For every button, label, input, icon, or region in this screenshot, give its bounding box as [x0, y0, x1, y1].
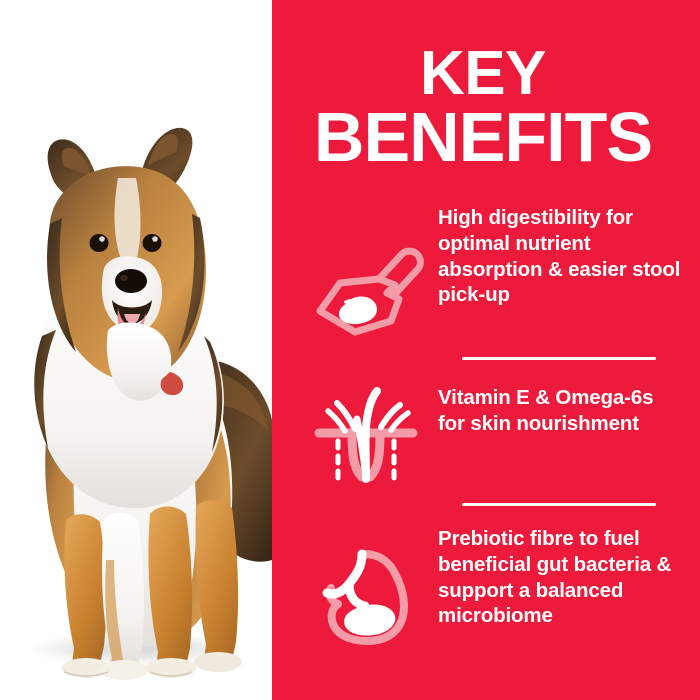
- dog-photo: [0, 0, 272, 700]
- page-title: KEY BENEFITS: [280, 44, 686, 171]
- stomach-inner-fill: [344, 605, 395, 636]
- title-line-key: KEY: [280, 44, 686, 104]
- sheltie-dog-illustration: [0, 0, 272, 700]
- spacer: [272, 506, 700, 524]
- stomach-icon: [307, 546, 425, 646]
- benefit-icon-cell: [294, 379, 438, 483]
- benefits-list: High digestibility for optimal nutrient …: [272, 203, 700, 646]
- spacer: [272, 337, 700, 357]
- benefit-icon-cell: [294, 203, 438, 337]
- key-benefits-panel: KEY BENEFITS: [272, 0, 700, 700]
- benefit-text: High digestibility for optimal nutrient …: [438, 203, 682, 308]
- benefit-item-digestibility: High digestibility for optimal nutrient …: [272, 203, 700, 337]
- benefit-icon-cell: [294, 524, 438, 646]
- key-benefits-poster: KEY BENEFITS: [0, 0, 700, 700]
- benefit-text: Vitamin E & Omega-6s for skin nourishmen…: [438, 379, 682, 437]
- title-line-benefits: BENEFITS: [280, 104, 686, 171]
- spacer: [272, 483, 700, 503]
- scoop-contents: [339, 296, 377, 324]
- hair-follicle-icon: [307, 383, 425, 483]
- benefit-item-skin: Vitamin E & Omega-6s for skin nourishmen…: [272, 379, 700, 483]
- spacer: [272, 360, 700, 379]
- benefit-text: Prebiotic fibre to fuel beneficial gut b…: [438, 524, 682, 629]
- product-photo-panel: [0, 0, 272, 700]
- benefit-item-gut: Prebiotic fibre to fuel beneficial gut b…: [272, 524, 700, 646]
- poop-scoop-icon: [307, 237, 425, 337]
